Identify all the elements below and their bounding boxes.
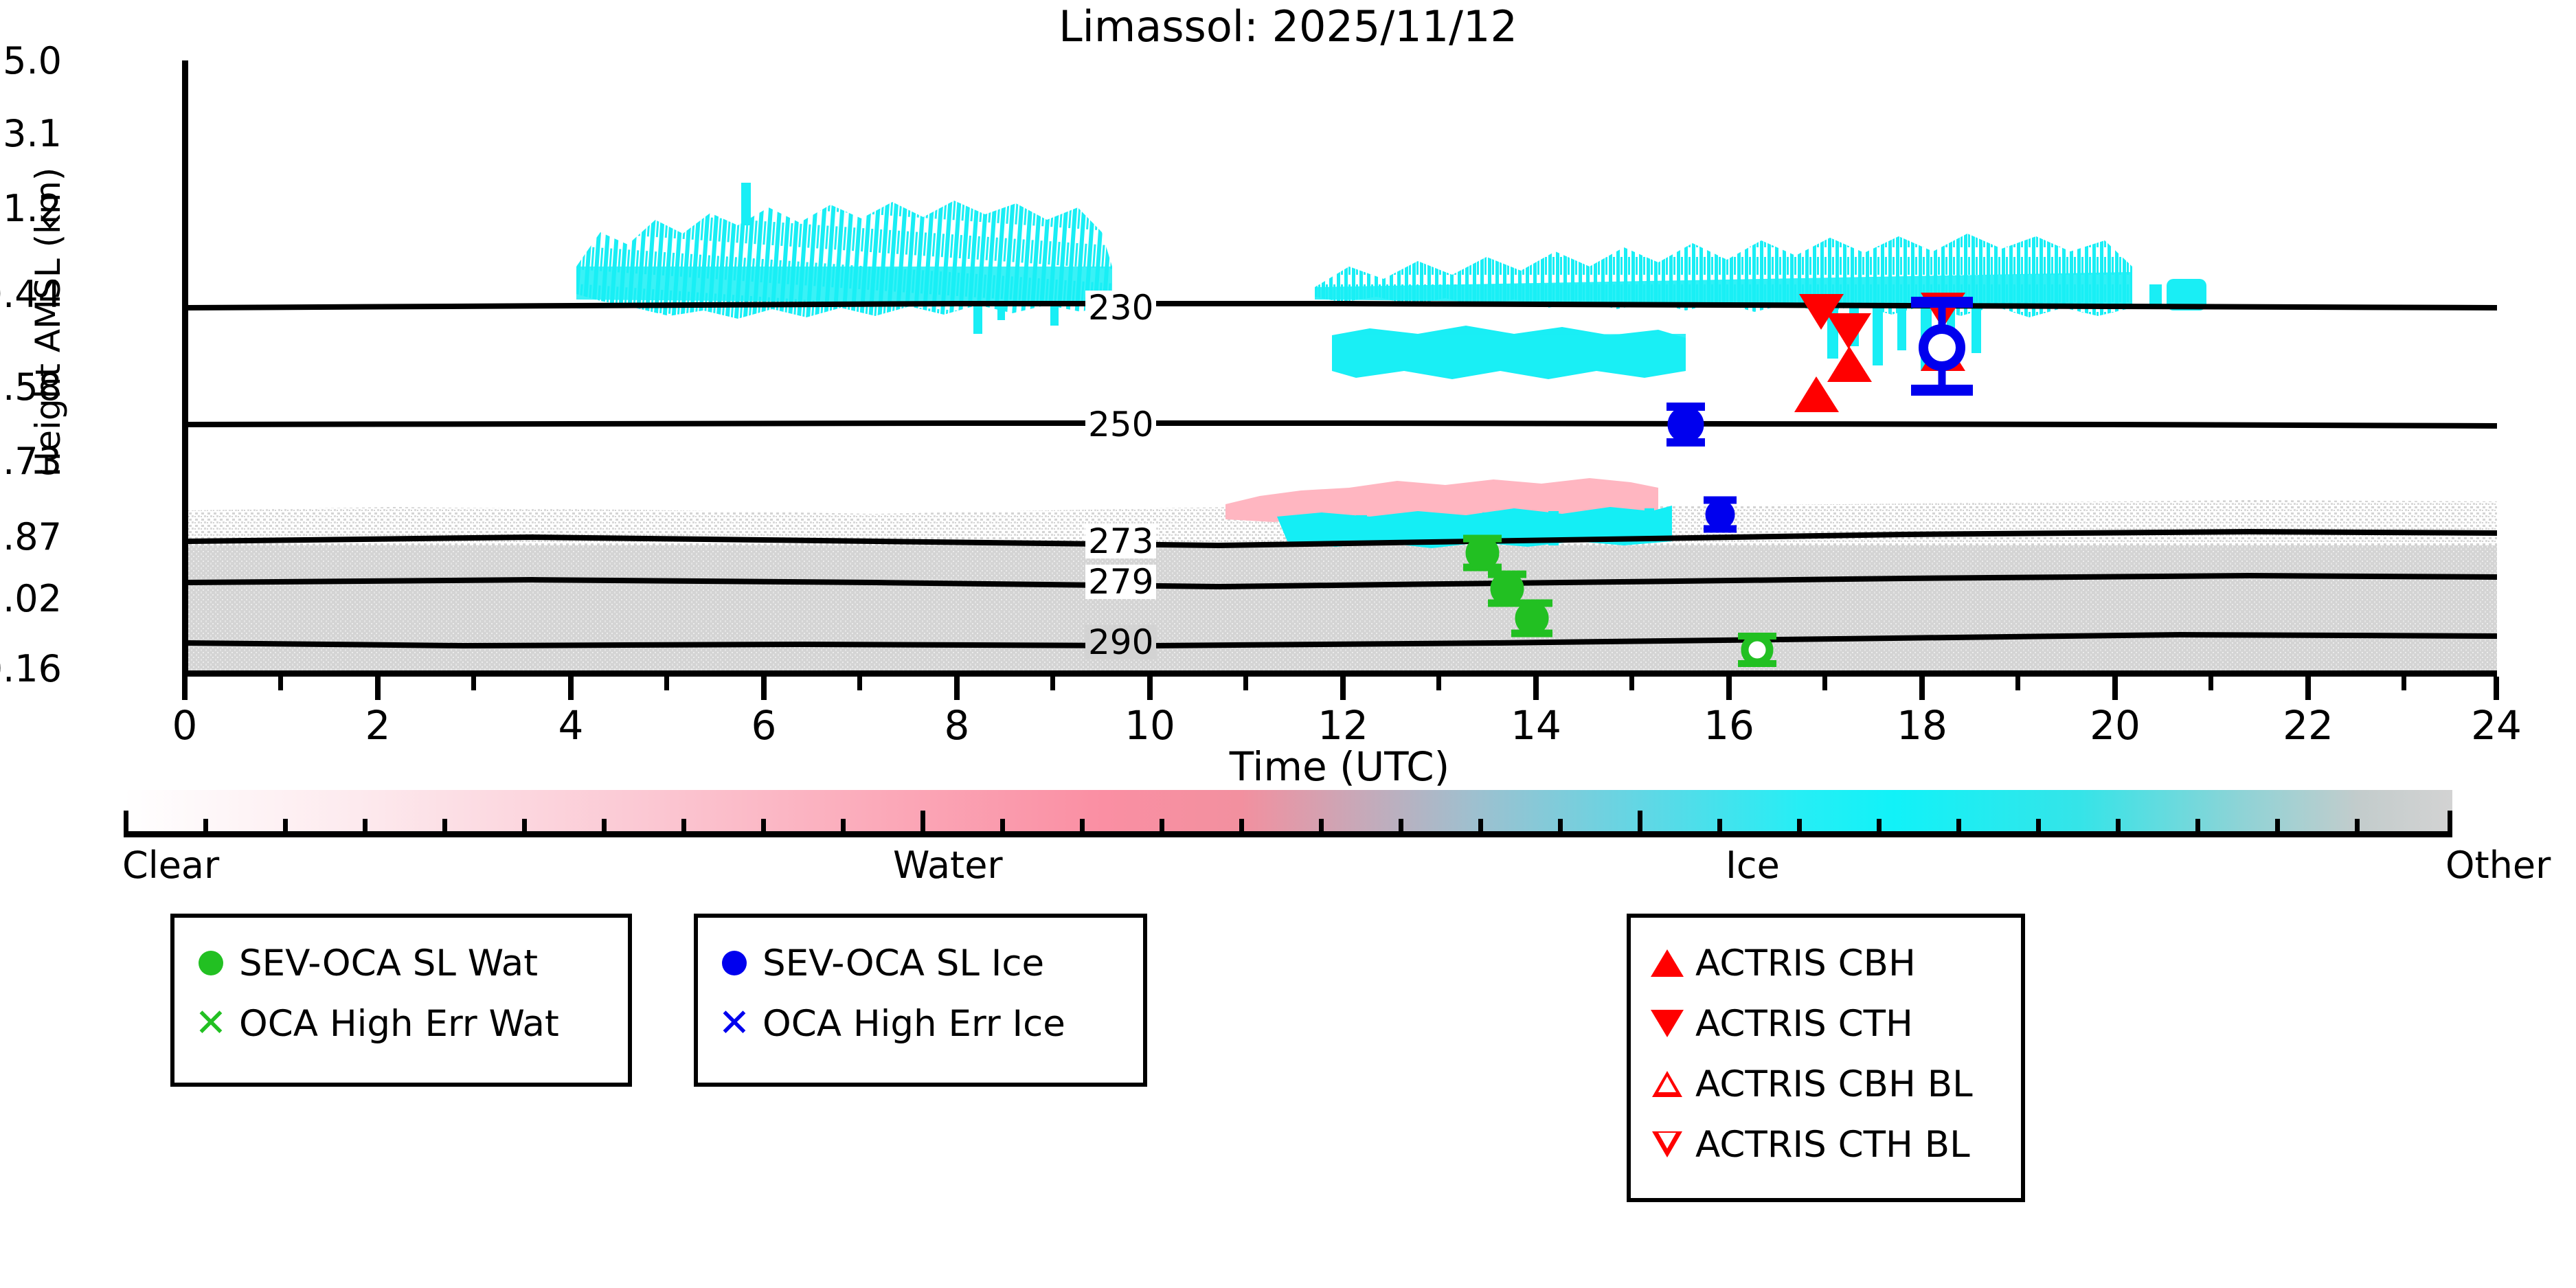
x-tick-mark [1726, 677, 1732, 700]
x-tick-mark [375, 677, 381, 700]
cloud-layer-cirrus-morning [576, 183, 1112, 334]
triangle-down-icon [1646, 1010, 1688, 1037]
cross-icon: ✕ [713, 1004, 756, 1043]
colorbar-tick [363, 819, 368, 834]
x-tick-mark [2494, 677, 2499, 700]
x-tick-mark-minor [857, 677, 862, 690]
colorbar-label-ice: Ice [1726, 844, 1780, 887]
x-tick-mark-minor [664, 677, 669, 690]
colorbar-tick [522, 819, 527, 834]
x-tick-mark-minor [2402, 677, 2406, 690]
y-tick-label: 9.44 [0, 276, 62, 313]
y-tick-label: 2.02 [0, 580, 62, 618]
legend-item-label: ACTRIS CBH BL [1695, 1063, 1973, 1105]
y-tick-label: 11.2 [0, 190, 62, 227]
colorbar-tick [1638, 811, 1642, 834]
isotherm-250 [188, 423, 2497, 426]
isotherm-230 [188, 304, 2497, 308]
colorbar-tick [2448, 811, 2452, 834]
oca-high-err-ice-marker [1911, 302, 1973, 390]
x-tick-label: 0 [116, 702, 253, 749]
x-tick-mark [568, 677, 574, 700]
x-tick-label: 6 [695, 702, 833, 749]
legend-item[interactable]: ✕ OCA High Err Ice [698, 993, 1143, 1054]
colorbar-tick [1239, 819, 1244, 834]
colorbar-tick [1956, 819, 1961, 834]
marker-sev-oca-sl-wat [1511, 602, 1552, 635]
colorbar-axis-line [124, 831, 2452, 837]
figure-root: Limassol: 2025/11/12 Height AMSL (km) 15… [0, 0, 2576, 1288]
x-tick-mark-minor [1050, 677, 1055, 690]
legend-item-label: ACTRIS CTH BL [1695, 1124, 1970, 1166]
legend-item[interactable]: SEV-OCA SL Wat [174, 933, 628, 993]
colorbar-tick [1478, 819, 1483, 834]
legend-item-label: OCA High Err Ice [762, 1003, 1065, 1045]
page-title: Limassol: 2025/11/12 [0, 1, 2576, 52]
x-tick-label: 24 [2428, 702, 2565, 749]
y-tick-label: 7.58 [0, 369, 62, 406]
legend-item[interactable]: ACTRIS CTH [1631, 993, 2021, 1054]
legend-item-label: ACTRIS CBH [1695, 942, 1916, 984]
x-tick-label: 20 [2046, 702, 2184, 749]
y-tick-label: 5.73 [0, 443, 62, 480]
colorbar-tick [1877, 819, 1882, 834]
x-axis-label: Time (UTC) [182, 743, 2497, 790]
x-tick-mark [761, 677, 767, 700]
colorbar-container: Clear Water Ice Other [0, 790, 2576, 927]
x-tick-mark [1533, 677, 1539, 700]
y-tick-label: 0.16 [0, 651, 62, 688]
colorbar-tick [681, 819, 686, 834]
colorbar-tick [1558, 819, 1563, 834]
x-tick-mark [1340, 677, 1346, 700]
colorbar-tick [1717, 819, 1722, 834]
x-tick-label: 8 [888, 702, 1026, 749]
colorbar-tick [1797, 819, 1802, 834]
x-tick-mark-minor [1629, 677, 1634, 690]
legend-item-label: ACTRIS CTH [1695, 1003, 1913, 1045]
boundary-layer-other [188, 530, 2497, 677]
colorbar-tick [2355, 819, 2360, 834]
y-tick-label: 15.0 [0, 43, 62, 80]
colorbar-label-other: Other [2445, 844, 2551, 887]
actris-legend: ACTRIS CBH ACTRIS CTH ACTRIS CBH BL ACTR… [1627, 914, 2025, 1202]
x-tick-mark-minor [1243, 677, 1248, 690]
x-tick-mark [2305, 677, 2311, 700]
colorbar-tick [841, 819, 846, 834]
colorbar-tick [920, 811, 925, 834]
colorbar-tick [283, 819, 288, 834]
x-tick-mark-minor [2208, 677, 2213, 690]
colorbar-tick [1319, 819, 1324, 834]
colorbar-tick [1000, 819, 1005, 834]
x-tick-label: 14 [1467, 702, 1605, 749]
legend-item[interactable]: ACTRIS CBH [1631, 933, 2021, 993]
triangle-up-icon [1646, 949, 1688, 977]
water-legend: SEV-OCA SL Wat ✕ OCA High Err Wat [170, 914, 632, 1087]
x-tick-mark-minor [471, 677, 476, 690]
colorbar-tick [1160, 819, 1164, 834]
isotherm-label-273: 273 [1085, 524, 1156, 558]
x-tick-mark [954, 677, 960, 700]
x-tick-label: 16 [1660, 702, 1798, 749]
x-tick-label: 18 [1853, 702, 1991, 749]
colorbar-tick [2195, 819, 2200, 834]
colorbar-tick [1080, 819, 1085, 834]
cross-icon: ✕ [190, 1004, 232, 1043]
plot-svg [188, 60, 2497, 677]
colorbar-tick [1399, 819, 1403, 834]
colorbar-tick [2275, 819, 2280, 834]
colorbar-gradient [124, 790, 2452, 831]
x-tick-mark-minor [1822, 677, 1827, 690]
colorbar-tick [203, 819, 208, 834]
legend-item-label: SEV-OCA SL Wat [239, 942, 538, 984]
x-tick-mark [182, 677, 188, 700]
legend-item[interactable]: ACTRIS CTH BL [1631, 1114, 2021, 1175]
y-tick-label: 13.1 [0, 115, 62, 152]
x-tick-mark-minor [278, 677, 283, 690]
colorbar-label-clear: Clear [122, 844, 219, 887]
filled-circle-icon [190, 951, 232, 975]
isotherm-label-290: 290 [1085, 625, 1156, 659]
marker-sev-oca-sl-ice [1667, 407, 1705, 442]
colorbar-tick [602, 819, 607, 834]
plot-canvas [188, 60, 2497, 670]
colorbar-tick [761, 819, 766, 834]
legend-item[interactable]: ✕ OCA High Err Wat [174, 993, 628, 1054]
x-tick-label: 2 [309, 702, 447, 749]
colorbar-tick [124, 811, 128, 834]
colorbar-tick [2116, 819, 2121, 834]
legend-item[interactable]: ACTRIS CBH BL [1631, 1054, 2021, 1114]
ice-legend: SEV-OCA SL Ice ✕ OCA High Err Ice [694, 914, 1147, 1087]
legend-item-label: SEV-OCA SL Ice [762, 942, 1044, 984]
legend-item[interactable]: SEV-OCA SL Ice [698, 933, 1143, 993]
triangle-up-open-icon [1646, 1071, 1688, 1097]
x-tick-label: 22 [2239, 702, 2377, 749]
triangle-down-open-icon [1646, 1131, 1688, 1157]
x-tick-mark [1147, 677, 1153, 700]
y-tick-label: 3.87 [0, 519, 62, 556]
colorbar-tick [442, 819, 447, 834]
legend-item-label: OCA High Err Wat [239, 1003, 559, 1045]
isotherm-label-230: 230 [1085, 291, 1156, 325]
x-tick-label: 10 [1081, 702, 1219, 749]
x-tick-label: 12 [1274, 702, 1412, 749]
marker-sev-oca-sl-wat [1463, 536, 1502, 569]
cloud-timeseries-plot [182, 60, 2497, 677]
filled-circle-icon [713, 951, 756, 975]
x-tick-mark [2112, 677, 2118, 700]
x-tick-mark-minor [2015, 677, 2020, 690]
x-tick-mark [1919, 677, 1925, 700]
isotherm-label-250: 250 [1085, 407, 1156, 442]
colorbar-label-water: Water [893, 844, 1003, 887]
x-tick-mark-minor [1436, 677, 1441, 690]
isotherm-label-279: 279 [1085, 565, 1156, 599]
colorbar-tick [2036, 819, 2041, 834]
x-tick-label: 4 [502, 702, 640, 749]
